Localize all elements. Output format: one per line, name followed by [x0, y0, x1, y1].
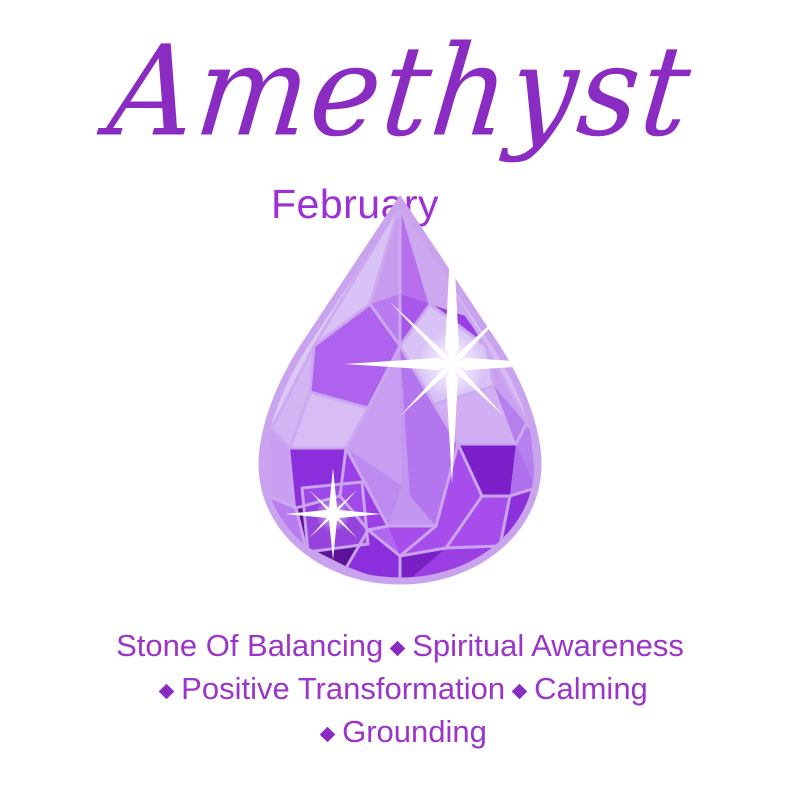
- gem-facets: [268, 204, 536, 588]
- attribute-text: Positive Transformation: [181, 671, 505, 706]
- attribute-text: Stone Of Balancing: [116, 628, 383, 663]
- attribute-text: Spiritual Awareness: [412, 628, 684, 663]
- page-title: Amethyst: [103, 26, 698, 157]
- attribute-list: Stone Of BalancingSpiritual AwarenessPos…: [0, 624, 800, 753]
- amethyst-birthstone-poster: Amethyst February: [0, 0, 800, 800]
- diamond-bullet-icon: [390, 641, 406, 657]
- attribute-text: Grounding: [342, 714, 487, 749]
- diamond-bullet-icon: [512, 684, 528, 700]
- attribute-line: Stone Of BalancingSpiritual Awareness: [0, 624, 800, 667]
- gemstone-illustration: [0, 196, 800, 588]
- attribute-text: Calming: [534, 671, 648, 706]
- diamond-bullet-icon: [320, 727, 336, 743]
- title-container: Amethyst: [0, 30, 800, 154]
- attribute-line: Grounding: [0, 710, 800, 753]
- diamond-bullet-icon: [159, 684, 175, 700]
- attribute-line: Positive TransformationCalming: [0, 667, 800, 710]
- amethyst-gem-svg: [250, 196, 550, 588]
